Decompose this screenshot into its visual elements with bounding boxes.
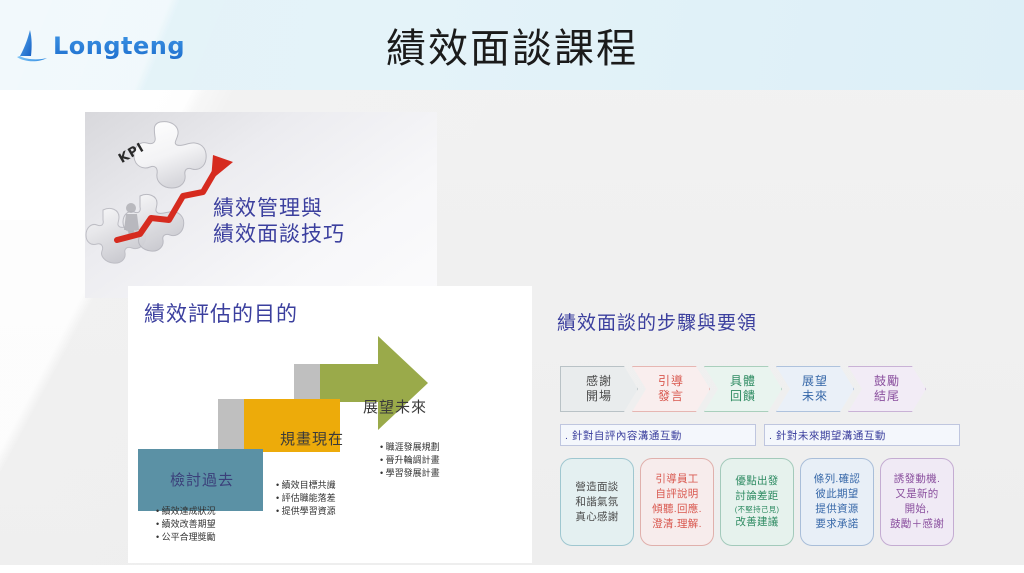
bullets-past: 績效達成狀況 績效改善期望 公平合理獎勵 (156, 505, 216, 544)
step-detail-line: 又是新的 (895, 487, 938, 502)
process-step-line2: 結尾 (874, 389, 900, 404)
stage-label-past: 檢討過去 (170, 469, 234, 490)
kpi-caption: 績效管理與 績效面談技巧 (213, 196, 345, 248)
step-detail-card-4[interactable]: 條列.確認彼此期望提供資源要求承諾 (800, 458, 874, 546)
step-detail-line: 自評說明 (655, 487, 698, 502)
bullet-item: 職涯發展規劃 (380, 441, 440, 454)
step-detail-line: 條列.確認 (814, 472, 860, 487)
step-detail-line: 傾聽.回應. (652, 502, 702, 517)
step-detail-card-2[interactable]: 引導員工自評說明傾聽.回應.澄清.理解. (640, 458, 714, 546)
process-step-line2: 發言 (658, 389, 684, 404)
step-detail-card-1[interactable]: 營造面談和諧氣氛真心感謝 (560, 458, 634, 546)
step-detail-card-5[interactable]: 誘發動機.又是新的開始,鼓勵＋感謝 (880, 458, 954, 546)
bullet-item: 公平合理獎勵 (156, 531, 216, 544)
interview-steps-title: 績效面談的步驟與要領 (557, 308, 757, 335)
step-detail-line: 鼓勵＋感謝 (890, 517, 944, 532)
step-detail-card-3[interactable]: 優點出發討論差距(不堅持己見)改善建議 (720, 458, 794, 546)
kpi-caption-line2: 績效面談技巧 (213, 222, 345, 248)
step-detail-line: 營造面談 (575, 480, 618, 495)
step-detail-line: 真心感謝 (575, 510, 618, 525)
bullet-item: 績效改善期望 (156, 518, 216, 531)
step-detail-line: 提供資源 (815, 502, 858, 517)
step-detail-line: 誘發動機. (894, 472, 940, 487)
step-detail-card-row: 營造面談和諧氣氛真心感謝引導員工自評說明傾聽.回應.澄清.理解.優點出發討論差距… (560, 458, 960, 546)
bullet-item: 評估職能落差 (276, 492, 336, 505)
stage-label-present: 規畫現在 (280, 428, 344, 449)
process-step-line1: 感謝 (586, 374, 612, 389)
banner-self-eval: . 針對自評內容溝通互動 (560, 424, 756, 446)
communication-banner-row: . 針對自評內容溝通互動 . 針對未來期望溝通互動 (560, 424, 960, 446)
step-detail-line: 要求承諾 (815, 517, 858, 532)
process-step-4[interactable]: 展望未來 (776, 366, 854, 412)
process-step-line2: 未來 (802, 389, 828, 404)
step-detail-line: 引導員工 (655, 472, 698, 487)
process-step-3[interactable]: 具體回饋 (704, 366, 782, 412)
process-step-line2: 開場 (586, 389, 612, 404)
process-step-2[interactable]: 引導發言 (632, 366, 710, 412)
step-detail-note: (不堅持己見) (735, 504, 780, 515)
step-detail-line: 彼此期望 (815, 487, 858, 502)
step-detail-line: 改善建議 (735, 515, 778, 530)
kpi-image-panel: KPI 績效管理與 績效面談技巧 (85, 112, 437, 298)
bullet-item: 學習發展計畫 (380, 467, 440, 480)
step-detail-line: 討論差距 (735, 489, 778, 504)
banner-future-expectation: . 針對未來期望溝通互動 (764, 424, 960, 446)
step-detail-line: 和諧氣氛 (575, 495, 618, 510)
process-chevron-row: 感謝開場引導發言具體回饋展望未來鼓勵結尾 (560, 366, 960, 412)
bullet-item: 績效目標共識 (276, 479, 336, 492)
bullet-item: 提供學習資源 (276, 505, 336, 518)
process-step-line1: 具體 (730, 374, 756, 389)
process-step-1[interactable]: 感謝開場 (560, 366, 638, 412)
performance-purpose-card: 績效評估的目的 展望未來 規畫現在 檢討過去 績效達成狀況 績效改善期望 公平合… (128, 286, 532, 563)
step-detail-line: 優點出發 (735, 474, 778, 489)
bullets-present: 績效目標共識 評估職能落差 提供學習資源 (276, 479, 336, 518)
process-step-line1: 引導 (658, 374, 684, 389)
step-detail-line: 澄清.理解. (652, 517, 702, 532)
bullet-item: 績效達成狀況 (156, 505, 216, 518)
slide-bottom-bar (0, 565, 1024, 573)
step-detail-line: 開始, (905, 502, 930, 517)
stage-label-future: 展望未來 (363, 396, 427, 417)
bullet-item: 晉升輪調計畫 (380, 454, 440, 467)
process-step-line1: 鼓勵 (874, 374, 900, 389)
page-title: 績效面談課程 (0, 16, 1024, 74)
kpi-caption-line1: 績效管理與 (213, 196, 345, 222)
bullets-future: 職涯發展規劃 晉升輪調計畫 學習發展計畫 (380, 441, 440, 480)
process-step-5[interactable]: 鼓勵結尾 (848, 366, 926, 412)
process-step-line1: 展望 (802, 374, 828, 389)
process-step-line2: 回饋 (730, 389, 756, 404)
